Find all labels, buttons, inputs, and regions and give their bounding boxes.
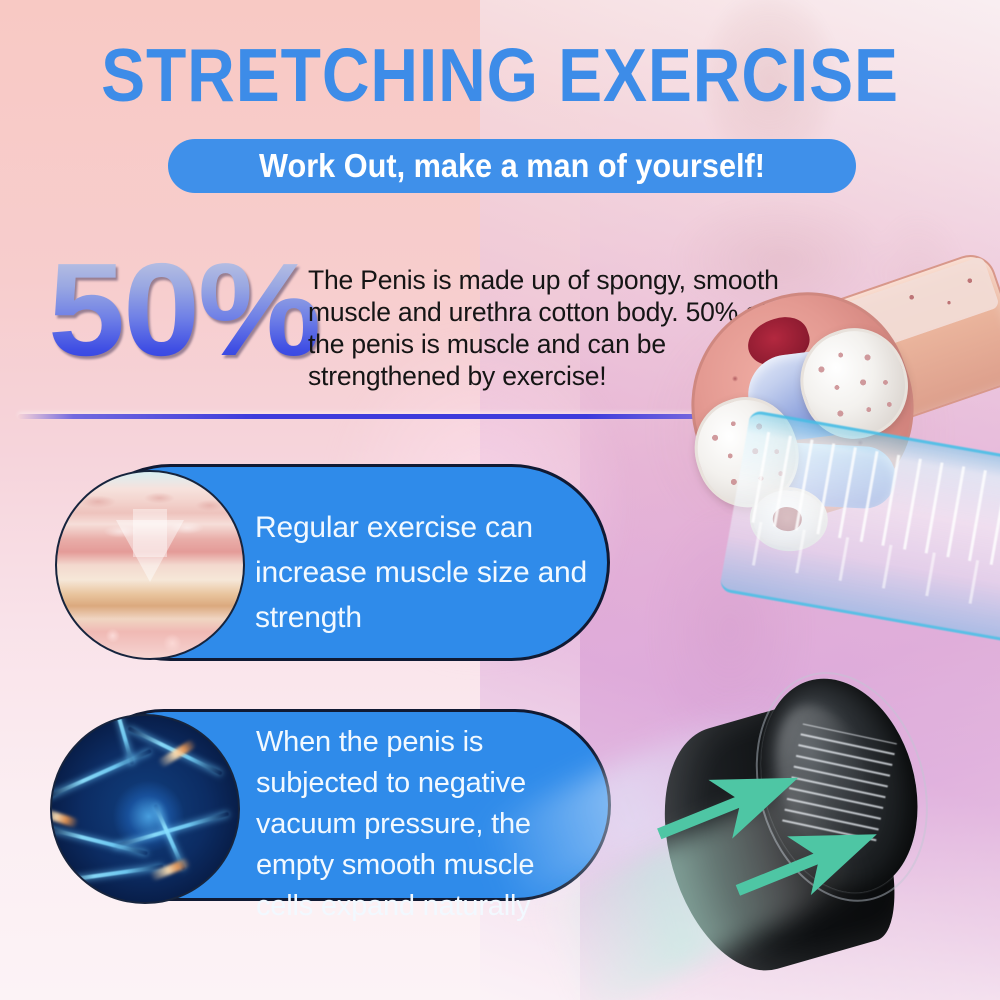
infographic-poster: STRETCHING EXERCISE Work Out, make a man… [0,0,1000,1000]
neuron-branch [110,714,134,765]
neuron-branch [50,749,152,800]
subtitle-text: Work Out, make a man of yourself! [259,147,765,185]
skin-layers-icon [55,470,245,660]
feature-card-1-text: Regular exercise can increase muscle siz… [255,505,595,640]
neuron-cells-icon [50,714,240,904]
neuron-spark-flare [50,806,79,828]
subtitle-banner: Work Out, make a man of yourself! [168,139,856,193]
skin-down-arrow-icon [116,520,184,582]
page-title: STRETCHING EXERCISE [60,38,940,113]
statistic-percentage: 50% [48,244,319,376]
